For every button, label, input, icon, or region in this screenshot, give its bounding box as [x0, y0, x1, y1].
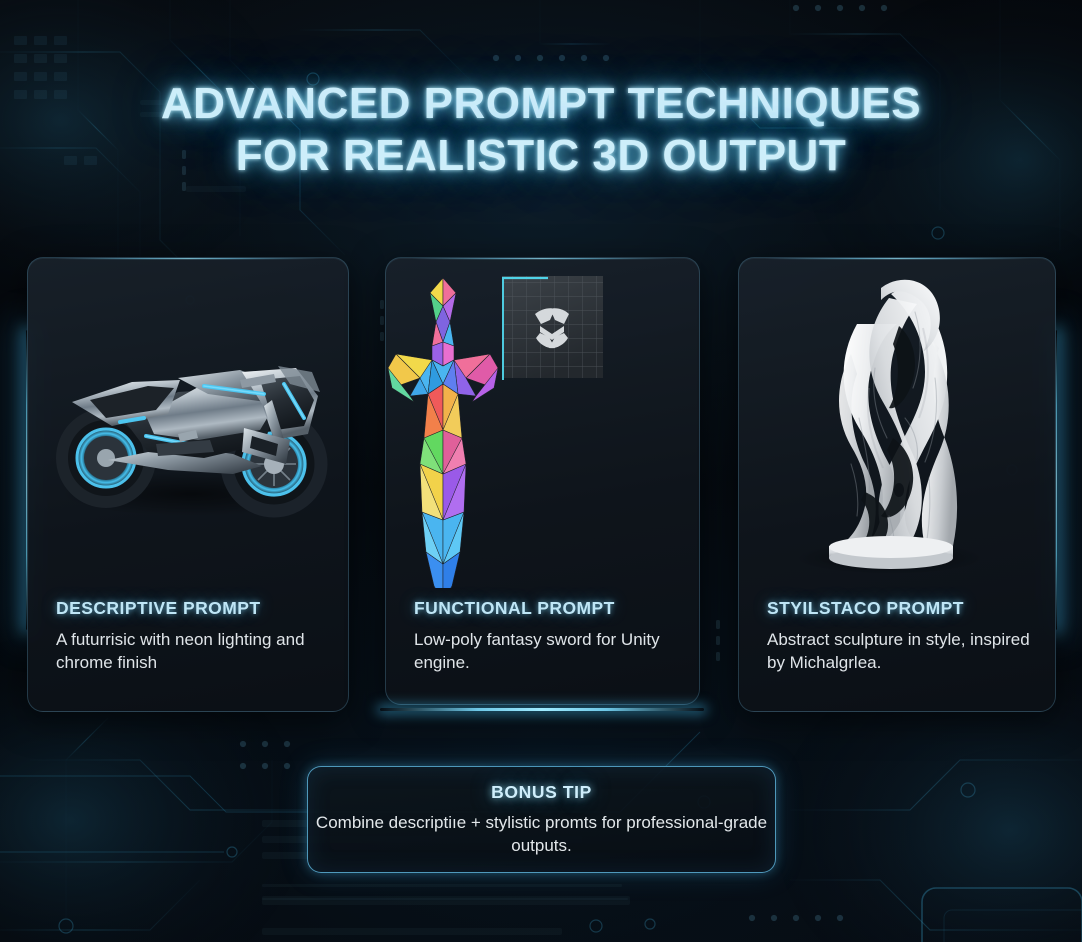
card-text-block: DESCRIPTIVE PROMPT A futurrisic with neo… — [56, 598, 330, 674]
unity-engine-panel — [502, 276, 603, 380]
prompt-card-stylistic[interactable]: STYILSTACO PROMPT Abstract sculpture in … — [738, 257, 1056, 712]
prompt-card-descriptive[interactable]: DESCRIPTIVE PROMPT A futurrisic with neo… — [27, 257, 349, 712]
motorcycle-visual — [28, 268, 348, 588]
card-body: Abstract sculpture in style, inspired by… — [767, 628, 1037, 674]
page-title-line-2: FOR REALISTIC 3D OUTPUT — [0, 130, 1082, 182]
card-heading: DESCRIPTIVE PROMPT — [56, 598, 330, 619]
sword-mesh — [388, 278, 498, 588]
card-heading: FUNCTIONAL PROMPT — [414, 598, 681, 619]
bonus-tip-box[interactable]: BONUS TIP Combine descriptiıe + stylisti… — [307, 766, 776, 873]
card-heading: STYILSTACO PROMPT — [767, 598, 1037, 619]
card-body: A futurrisic with neon lighting and chro… — [56, 628, 330, 674]
low-poly-sword-icon — [386, 268, 700, 588]
futuristic-motorcycle-icon — [28, 268, 349, 588]
sword-visual — [386, 268, 699, 588]
page-title: ADVANCED PROMPT TECHNIQUES FOR REALISTIC… — [0, 78, 1082, 182]
bonus-tip-body: Combine descriptiıe + stylistic promts f… — [308, 811, 775, 857]
marble-sculpture-icon — [739, 268, 1056, 588]
card-body: Low-poly fantasy sword for Unity engine. — [414, 628, 681, 674]
infographic-canvas: ADVANCED PROMPT TECHNIQUES FOR REALISTIC… — [0, 0, 1082, 942]
bonus-connector-glow — [380, 708, 704, 711]
prompt-card-functional[interactable]: FUNCTIONAL PROMPT Low-poly fantasy sword… — [385, 257, 700, 705]
page-title-line-1: ADVANCED PROMPT TECHNIQUES — [0, 78, 1082, 130]
card-text-block: STYILSTACO PROMPT Abstract sculpture in … — [767, 598, 1037, 674]
bonus-tip-title: BONUS TIP — [308, 782, 775, 803]
card-text-block: FUNCTIONAL PROMPT Low-poly fantasy sword… — [414, 598, 681, 674]
sculpture-visual — [739, 268, 1055, 588]
